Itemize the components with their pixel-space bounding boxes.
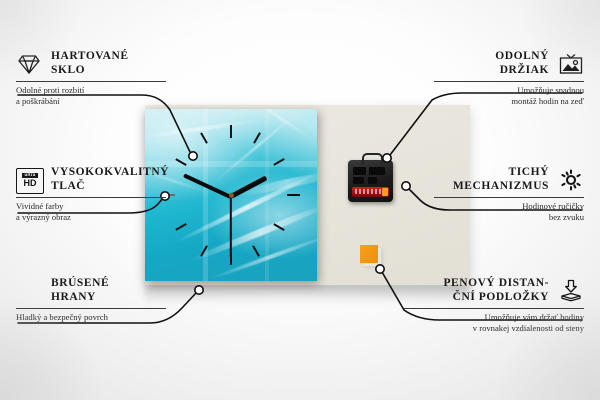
tick-5 (252, 245, 260, 256)
foam-spacer-pad (360, 245, 378, 263)
feature-desc-line: Odolné proti rozbití (16, 85, 166, 96)
feature-title-line: MECHANIZMUS (453, 180, 549, 194)
clock-center-pin (229, 193, 234, 198)
feature-divider (16, 197, 166, 198)
foam-spacer-icon (558, 279, 584, 303)
feature-title-line: SKLO (51, 64, 129, 78)
feature-title-line: TLAČ (51, 180, 169, 194)
tick-12 (230, 125, 232, 138)
feature-title-line: HRANY (51, 291, 109, 305)
ultra-hd-icon: ultraHD (16, 168, 42, 192)
tick-8 (175, 223, 186, 231)
feature-sanded-edges: BRÚSENÉ HRANY Hladký a bezpečný povrch (16, 277, 166, 323)
feature-silent-mechanism: TICHÝ MECHANIZMUS Hodinové ručičky bez z… (434, 166, 584, 222)
feature-foam-spacers: PENOVÝ DISTAN- ČNÍ PODLOŽKY Umožňuje vám… (404, 277, 584, 333)
feature-desc-line: Hladký a bezpečný povrch (16, 312, 166, 323)
feature-hanger: ODOLNÝ DRŽIAK Umožňuje snadnou montáž ho… (434, 50, 584, 106)
battery (352, 187, 389, 197)
gear-icon (558, 168, 584, 192)
feature-title-line: ODOLNÝ (495, 50, 549, 64)
product-photo (145, 105, 470, 285)
feature-desc-line: bez zvuku (434, 212, 584, 223)
feature-divider (434, 81, 584, 82)
feature-divider (16, 308, 166, 309)
feature-desc-line: a poškrábání (16, 96, 166, 107)
feature-desc-line: a výrazný obraz (16, 212, 166, 223)
product-infographic: HARTOVANÉ SKLO Odolné proti rozbití a po… (0, 0, 600, 400)
feature-title-line: VYSOKOKVALITNÝ (51, 166, 169, 180)
feature-print-quality: ultraHD VYSOKOKVALITNÝ TLAČ Vividné farb… (16, 166, 166, 222)
feature-title-line: DRŽIAK (500, 64, 549, 78)
feature-desc-line: Umožňuje snadnou (434, 85, 584, 96)
sanded-edges-icon (16, 279, 42, 303)
feature-title-line: BRÚSENÉ (51, 277, 109, 291)
glass-clock-face (145, 109, 317, 281)
feature-title-line: PENOVÝ DISTAN- (443, 277, 549, 291)
feature-desc-line: v rovnakej vzdialenosti od steny (404, 323, 584, 334)
feature-tempered-glass: HARTOVANÉ SKLO Odolné proti rozbití a po… (16, 50, 166, 106)
picture-frame-hanger-icon (558, 52, 584, 76)
feature-divider (434, 197, 584, 198)
diamond-icon (16, 52, 42, 76)
feature-desc-line: Hodinové ručičky (434, 201, 584, 212)
feature-desc-line: Vividné farby (16, 201, 166, 212)
feature-title-line: ČNÍ PODLOŽKY (453, 291, 549, 305)
feature-desc-line: montáž hodin na zeď (434, 96, 584, 107)
tick-3 (287, 194, 300, 196)
feature-title-line: HARTOVANÉ (51, 50, 129, 64)
feature-title-line: TICHÝ (509, 166, 549, 180)
clock-mechanism (348, 160, 393, 202)
feature-divider (16, 81, 166, 82)
second-hand (230, 196, 232, 258)
hanger-loop (362, 153, 383, 165)
feature-divider (404, 308, 584, 309)
feature-desc-line: Umožňuje vám držať hodiny (404, 312, 584, 323)
